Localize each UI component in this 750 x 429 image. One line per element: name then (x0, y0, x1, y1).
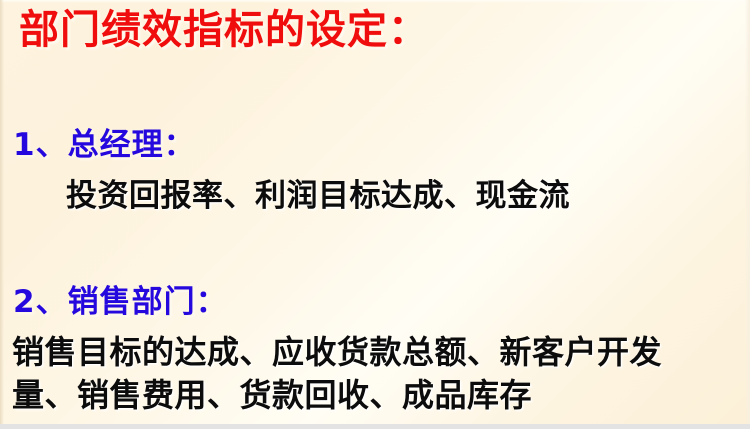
slide-canvas: 部门绩效指标的设定： 1、总经理： 投资回报率、利润目标达成、现金流 2、销售部… (0, 0, 750, 429)
section-1-body-line-1: 投资回报率、利润目标达成、现金流 (66, 177, 570, 215)
section-2-body-line-2: 量、销售费用、货款回收、成品库存 (12, 376, 532, 414)
section-2-body-line-1: 销售目标的达成、应收货款总额、新客户开发 (12, 333, 662, 371)
slide-content: 部门绩效指标的设定： 1、总经理： 投资回报率、利润目标达成、现金流 2、销售部… (0, 0, 750, 429)
slide-bottom-band (0, 424, 750, 429)
slide-title: 部门绩效指标的设定： (19, 6, 429, 54)
section-1-heading: 1、总经理： (13, 126, 196, 164)
section-2-heading: 2、销售部门： (13, 283, 228, 321)
